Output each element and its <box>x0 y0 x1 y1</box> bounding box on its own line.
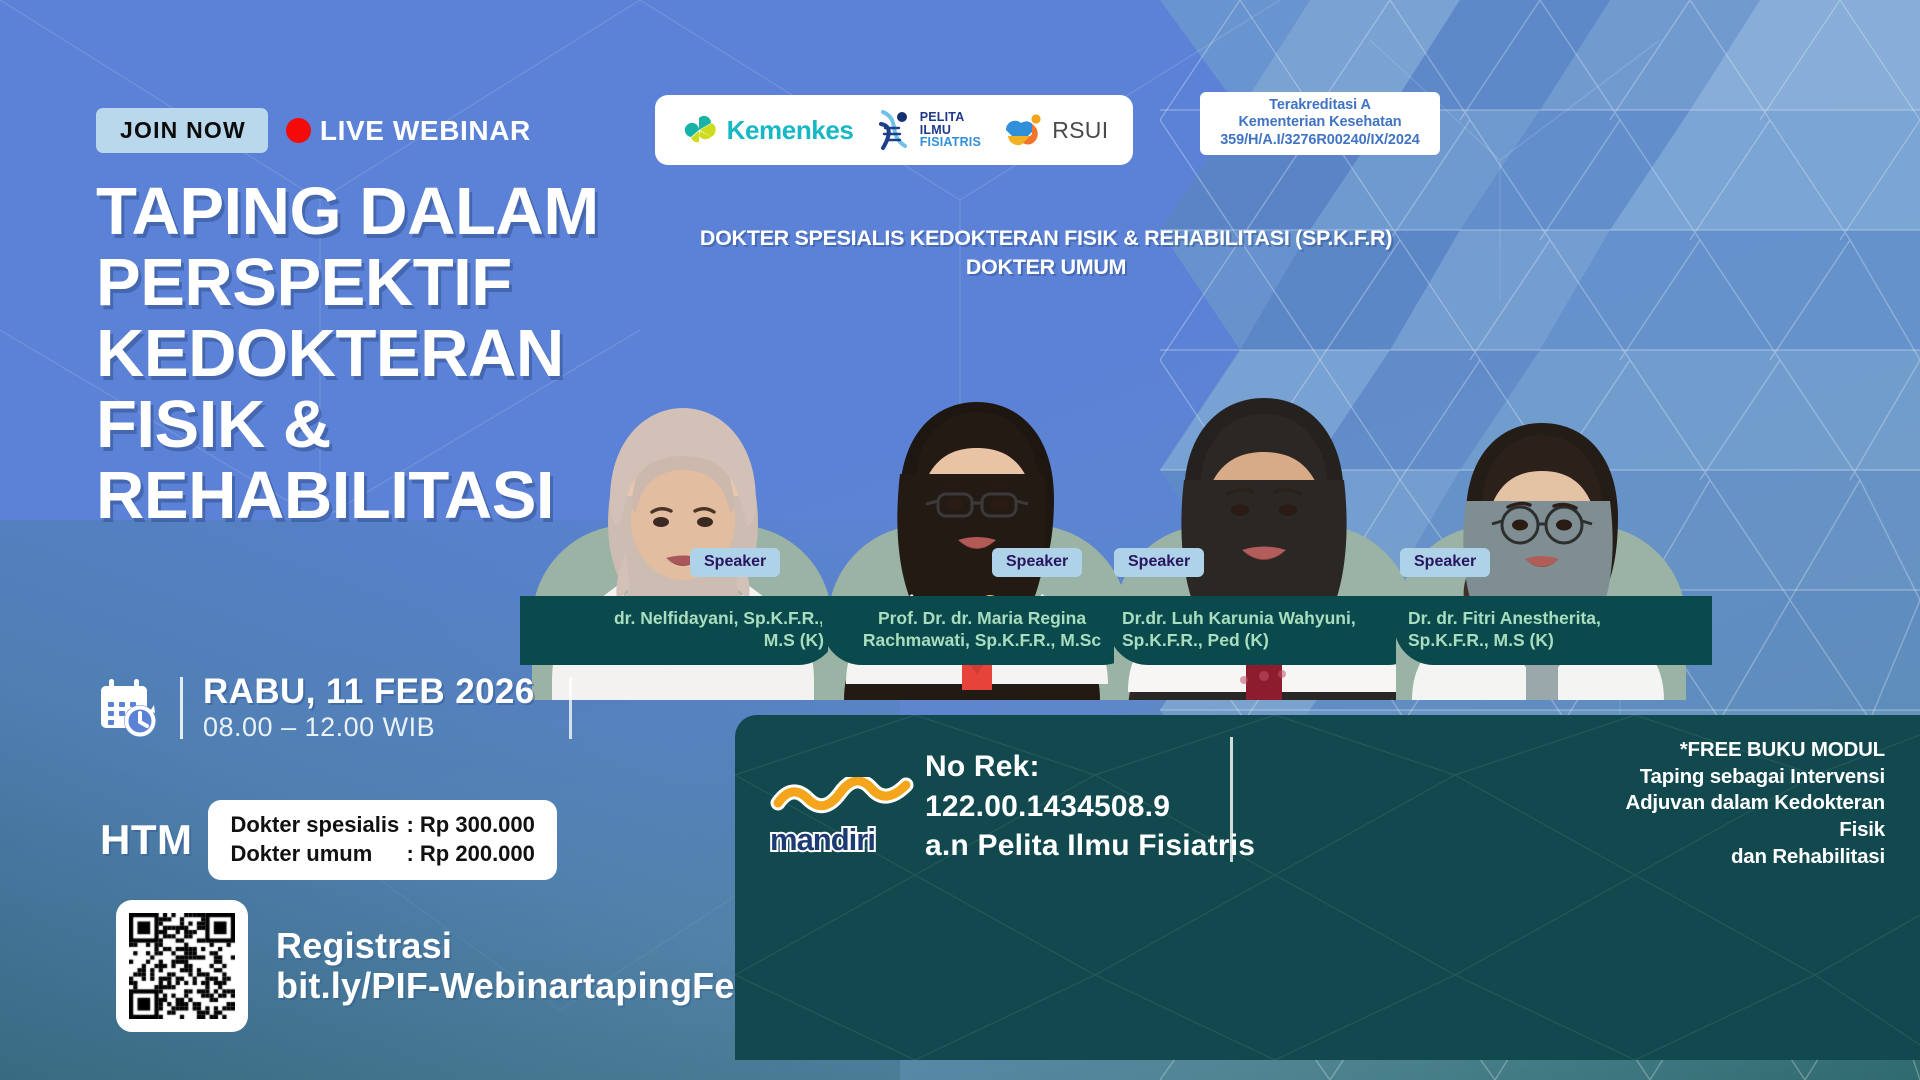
account-info: No Rek: 122.00.1434508.9 a.n Pelita Ilmu… <box>925 747 1255 866</box>
speaker-name-line-2: Sp.K.F.R., M.S (K) <box>1408 630 1698 652</box>
rsui-mark-icon <box>1002 110 1046 150</box>
free-module-line-3: Adjuvan dalam Kedokteran Fisik <box>1585 790 1885 843</box>
pricing-value: : Rp 300.000 <box>406 810 534 839</box>
event-datetime: RABU, 11 FEB 2026 08.00 – 12.00 WIB <box>96 672 572 744</box>
htm-label: HTM <box>100 816 192 864</box>
speaker-badge: Speaker <box>1400 548 1490 577</box>
speaker-name-line-2: M.S (K) <box>534 630 824 652</box>
speaker-name-bar: Dr.dr. Luh Karunia Wahyuni, Sp.K.F.R., P… <box>1108 596 1428 665</box>
join-now-button[interactable]: JOIN NOW <box>96 108 268 153</box>
speaker-name-bar: Dr. dr. Fitri Anestherita, Sp.K.F.R., M.… <box>1394 596 1712 665</box>
pricing-card: Dokter spesialis : Rp 300.000 Dokter umu… <box>208 800 556 880</box>
audience-heading: DOKTER SPESIALIS KEDOKTERAN FISIK & REHA… <box>636 224 1456 282</box>
live-webinar-label: LIVE WEBINAR <box>320 117 531 145</box>
payment-panel: mandiri No Rek: 122.00.1434508.9 a.n Pel… <box>735 715 1920 1060</box>
speaker-name-line-2: Rachmawati, Sp.K.F.R., M.Sc <box>836 630 1128 652</box>
join-live-row: JOIN NOW LIVE WEBINAR <box>96 108 531 153</box>
free-module-note: *FREE BUKU MODUL Taping sebagai Interven… <box>1585 737 1885 870</box>
registration-section[interactable]: Registrasi bit.ly/PIF-WebinartapingFeb26 <box>116 900 797 1032</box>
accreditation-line-2: Kementerian Kesehatan <box>1209 114 1431 131</box>
event-time: 08.00 – 12.00 WIB <box>203 711 535 743</box>
speaker-badge: Speaker <box>690 548 780 577</box>
pricing-section: HTM Dokter spesialis : Rp 300.000 Dokter… <box>100 800 557 880</box>
speaker-name-bar: Prof. Dr. dr. Maria Regina Rachmawati, S… <box>822 596 1142 665</box>
speaker-name-line-1: Dr.dr. Luh Karunia Wahyuni, <box>1122 608 1414 630</box>
speaker-name-line-2: Sp.K.F.R., Ped (K) <box>1122 630 1414 652</box>
divider <box>569 677 572 739</box>
pricing-value: : Rp 200.000 <box>406 839 534 868</box>
calendar-clock-icon <box>96 676 160 740</box>
partner-logo-bar: Kemenkes PELITA ILMU FISIATRIS RSU <box>655 95 1133 165</box>
speaker-name-line-1: dr. Nelfidayani, Sp.K.F.R., <box>534 608 824 630</box>
registration-title: Registrasi <box>276 926 797 966</box>
live-record-dot-icon <box>286 118 311 143</box>
pelita-ilmu-fisiatris-logo: PELITA ILMU FISIATRIS <box>875 108 981 152</box>
live-webinar-indicator: LIVE WEBINAR <box>286 117 531 145</box>
free-module-line-2: Taping sebagai Intervensi <box>1585 764 1885 791</box>
speaker-badge: Speaker <box>992 548 1082 577</box>
kemenkes-mark-icon <box>680 110 720 150</box>
audience-line-1: DOKTER SPESIALIS KEDOKTERAN FISIK & REHA… <box>636 224 1456 253</box>
pelita-line-1: PELITA <box>920 111 981 124</box>
pricing-key: Dokter umum <box>230 839 406 868</box>
mandiri-wave-icon <box>770 777 920 817</box>
speaker-card: dr. Nelfidayani, Sp.K.F.R., M.S (K) Spea… <box>520 380 850 700</box>
pricing-row: Dokter spesialis : Rp 300.000 <box>230 810 534 839</box>
accreditation-line-3: 359/H/A.I/3276R00240/IX/2024 <box>1209 132 1431 149</box>
accreditation-badge: Terakreditasi A Kementerian Kesehatan 35… <box>1200 92 1440 155</box>
audience-line-2: DOKTER UMUM <box>636 253 1456 282</box>
pelita-line-3: FISIATRIS <box>920 136 981 149</box>
speaker-name-line-1: Prof. Dr. dr. Maria Regina <box>836 608 1128 630</box>
accreditation-line-1: Terakreditasi A <box>1209 97 1431 114</box>
divider <box>180 677 183 739</box>
pricing-row: Dokter umum : Rp 200.000 <box>230 839 534 868</box>
webinar-poster: JOIN NOW LIVE WEBINAR TAPING DALAM PERSP… <box>0 0 1920 1080</box>
account-number: 122.00.1434508.9 <box>925 787 1255 827</box>
divider <box>1230 737 1233 862</box>
account-name: a.n Pelita Ilmu Fisiatris <box>925 826 1255 866</box>
title-line-3: KEDOKTERAN <box>96 318 736 389</box>
speaker-badge: Speaker <box>1114 548 1204 577</box>
speaker-name-line-1: Dr. dr. Fitri Anestherita, <box>1408 608 1698 630</box>
kemenkes-label: Kemenkes <box>727 115 854 146</box>
mandiri-logo: mandiri <box>770 777 930 858</box>
event-date: RABU, 11 FEB 2026 <box>203 672 535 711</box>
pricing-key: Dokter spesialis <box>230 810 406 839</box>
registration-link[interactable]: bit.ly/PIF-WebinartapingFeb26 <box>276 966 797 1006</box>
mandiri-label: mandiri <box>770 822 930 858</box>
speaker-card: Dr. dr. Fitri Anestherita, Sp.K.F.R., M.… <box>1382 380 1712 700</box>
norek-label: No Rek: <box>925 747 1255 787</box>
qr-code[interactable] <box>116 900 248 1032</box>
speaker-name-bar: dr. Nelfidayani, Sp.K.F.R., M.S (K) <box>520 596 838 665</box>
speaker-gallery: dr. Nelfidayani, Sp.K.F.R., M.S (K) Spea… <box>520 380 1920 700</box>
free-module-line-1: *FREE BUKU MODUL <box>1585 737 1885 764</box>
kemenkes-logo: Kemenkes <box>680 110 854 150</box>
free-module-line-4: dan Rehabilitasi <box>1585 844 1885 871</box>
rsui-label: RSUI <box>1052 117 1108 144</box>
pelita-dna-icon <box>875 108 915 152</box>
rsui-logo: RSUI <box>1002 110 1108 150</box>
